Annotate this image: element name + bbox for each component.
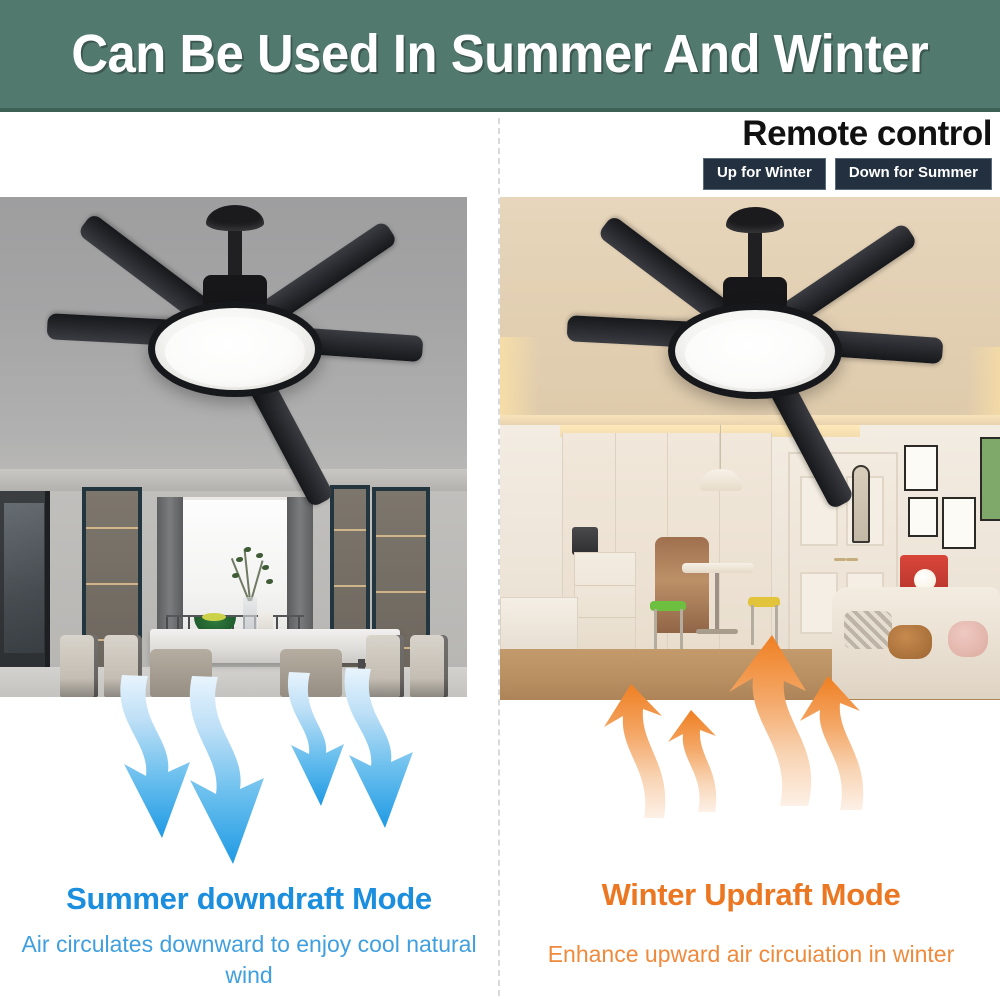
wall-art <box>904 445 938 491</box>
remote-control-strip: Remote control Up for Winter Down for Su… <box>0 112 1000 197</box>
winter-mode-subtitle: Enhance upward air circuiation in winter <box>502 939 1000 970</box>
fan-ceiling-mount <box>726 207 784 233</box>
dining-chair <box>280 649 342 697</box>
summer-caption: Summer downdraft Mode Air circulates dow… <box>0 880 498 991</box>
throw-blanket <box>844 611 892 649</box>
fan-downrod <box>228 227 242 281</box>
updraft-arrow-2 <box>668 710 716 812</box>
arch-mirror <box>852 465 870 543</box>
summer-mode-title: Summer downdraft Mode <box>0 880 498 917</box>
remote-control-heading: Remote control <box>742 114 992 154</box>
ceiling-fan-winter <box>570 207 940 447</box>
fan-downrod <box>748 229 762 283</box>
wall-art <box>908 497 938 537</box>
updraft-arrow-1 <box>604 684 665 818</box>
dining-chair <box>104 635 142 697</box>
summer-downdraft-arrows <box>120 668 413 864</box>
fruit <box>202 613 226 621</box>
door-glass <box>4 503 44 653</box>
dining-chair <box>366 635 404 697</box>
dining-chair <box>410 635 448 697</box>
up-for-winter-button[interactable]: Up for Winter <box>703 158 826 190</box>
ceiling-fan-summer <box>50 205 420 445</box>
winter-room-photo <box>500 197 1000 700</box>
fan-light-glow <box>685 319 825 389</box>
winter-mode-title: Winter Updraft Mode <box>502 876 1000 913</box>
bear-cushion <box>888 625 932 659</box>
page-title: Can Be Used In Summer And Winter <box>72 23 929 85</box>
remote-button-group: Up for Winter Down for Summer <box>703 158 992 190</box>
wall-art <box>980 437 1000 521</box>
center-divider <box>498 118 500 996</box>
pink-cushion <box>948 621 988 657</box>
fan-light-glow <box>165 317 305 387</box>
curtain-right <box>287 497 313 629</box>
summer-mode-subtitle: Air circulates downward to enjoy cool na… <box>0 929 498 991</box>
door-handle <box>834 558 846 561</box>
console-table <box>500 597 578 655</box>
downdraft-arrow-2 <box>190 676 264 864</box>
down-for-summer-button[interactable]: Down for Summer <box>835 158 992 190</box>
wall-art <box>942 497 976 549</box>
door-handle <box>846 558 858 561</box>
table-base <box>696 629 738 634</box>
bistro-table <box>682 563 754 573</box>
downdraft-arrow-1 <box>120 675 190 838</box>
curtain-left <box>157 497 183 629</box>
header-banner: Can Be Used In Summer And Winter <box>0 0 1000 112</box>
winter-caption: Winter Updraft Mode Enhance upward air c… <box>502 876 1000 970</box>
dining-chair <box>60 635 98 697</box>
product-feature-page: Can Be Used In Summer And Winter Remote … <box>0 0 1000 1000</box>
table-stem <box>715 573 719 631</box>
dining-chair <box>150 649 212 697</box>
fan-ceiling-mount <box>206 205 264 231</box>
coffee-machine <box>572 527 598 555</box>
summer-room-photo <box>0 197 467 697</box>
dresser <box>574 552 636 652</box>
